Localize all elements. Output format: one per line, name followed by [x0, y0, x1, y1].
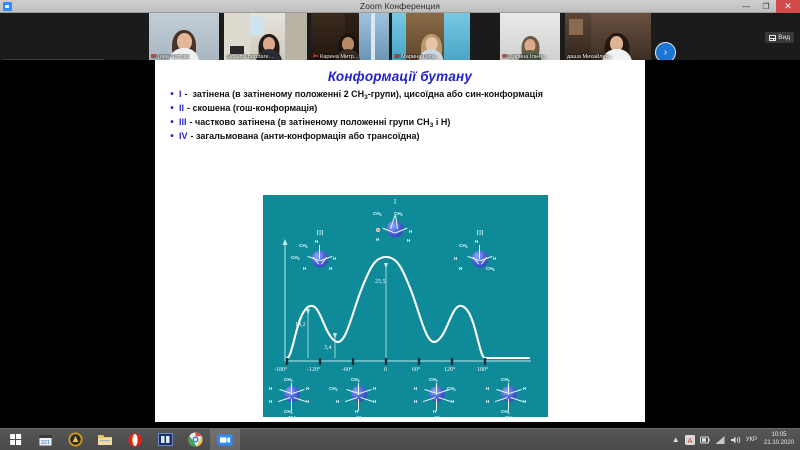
chevron-right-icon: › [664, 48, 667, 58]
atom-label: H [303, 266, 306, 271]
network-icon[interactable] [715, 435, 725, 445]
chrome-icon [188, 432, 203, 447]
bullet-text-a: скошена (гош-конформація) [193, 103, 318, 113]
bullet-dot: • [165, 117, 179, 128]
atom-label: CH3 [459, 243, 468, 248]
x-tick-label: 180° [477, 367, 488, 373]
atom-label: H [486, 399, 489, 404]
atom-label: H [451, 399, 454, 404]
atom-label: H [269, 399, 272, 404]
newman-bond [479, 245, 480, 259]
svg-text:A: A [687, 437, 692, 444]
system-tray: ▲ A УКР 10:05 21.10.2020 [672, 432, 800, 447]
bullet-dot: • [165, 131, 179, 142]
atom-label: CH3 [394, 211, 403, 216]
highlight-dot [376, 228, 380, 232]
atom-label: H [315, 239, 318, 244]
atom-label: H [306, 399, 309, 404]
taskbar-item-opera[interactable] [120, 429, 150, 450]
newman-projection-bottom-3: CH3 H CH3 H H H II [413, 379, 461, 413]
atom-label: H [433, 409, 436, 414]
list-item: • II- скошена (гош-конформація) [165, 103, 635, 115]
participant-tile[interactable]: ✄ Інна Попова [149, 13, 219, 60]
bullet-dot: • [165, 89, 179, 100]
atom-label: H [523, 399, 526, 404]
app-icon [158, 433, 173, 446]
conformer-roman: III [317, 229, 324, 237]
atom-label: H [414, 386, 417, 391]
list-item: • III- частково затінена (в затіненому п… [165, 117, 635, 129]
laptop-shape [230, 46, 244, 54]
x-tick-label: 0 [384, 367, 387, 373]
taskbar-item-chrome[interactable] [180, 429, 210, 450]
bullet-dash: - [185, 89, 188, 99]
atom-label: H [459, 266, 462, 271]
conformer-roman: II [435, 415, 440, 423]
atom-label: CH3 [291, 255, 300, 260]
atom-label: H [373, 386, 376, 391]
atom-label: CH3 [299, 243, 308, 248]
participant-tile[interactable]: ✄ Карина Митр... [311, 13, 389, 60]
taskbar-item-calendar[interactable]: 321 [30, 429, 60, 450]
bullet-text-a: затінена (в затіненому положенні 2 CH [193, 89, 365, 99]
explorer-icon [97, 433, 113, 446]
zoom-icon [217, 434, 233, 446]
bullet-text: III- частково затінена (в затіненому пол… [179, 117, 635, 129]
atom-label: CH3 [429, 377, 438, 382]
clock-time: 10:05 [762, 432, 796, 439]
conformer-roman: IV [505, 415, 512, 423]
bullet-dot: • [165, 103, 179, 114]
conformer-roman: III [477, 229, 484, 237]
bullet-subscript: 3 [430, 122, 434, 129]
bullet-dash: - [190, 117, 193, 127]
newman-bond [319, 245, 320, 259]
taskbar-item-media[interactable] [60, 429, 90, 450]
window-titlebar[interactable]: Zoom Конференция — ❐ ✕ [0, 0, 800, 13]
atom-label: H [414, 399, 417, 404]
atom-label: H [329, 266, 332, 271]
annotation-arrow-3-4 [333, 333, 337, 339]
atom-label: CH3 [486, 266, 495, 271]
taskbar-item-zoom[interactable] [210, 429, 240, 450]
slide-title: Конформації бутану [155, 69, 645, 84]
atom-label: H [333, 256, 336, 261]
zoom-meeting-window: Zoom Конференция — ❐ ✕ ✄ Інна Попова [0, 0, 800, 428]
desktop: Zoom Конференция — ❐ ✕ ✄ Інна Попова [0, 0, 800, 450]
bullet-dash: - [191, 131, 194, 141]
participant-filmstrip: ✄ Інна Попова Svitlana Bondare... [0, 13, 800, 60]
bullet-text-a: частково затінена (в затіненому положенн… [195, 117, 430, 127]
x-tick-label: 60° [412, 367, 420, 373]
x-tick-label: -120° [307, 367, 320, 373]
atom-label: CH3 [447, 386, 456, 391]
minimize-button[interactable]: — [736, 0, 756, 13]
picture-frame [569, 19, 583, 35]
atom-label: H [454, 256, 457, 261]
atom-label: CH3 [284, 409, 293, 414]
window-frame [371, 13, 375, 60]
bullet-roman: IV [179, 131, 188, 141]
atom-label: CH3 [329, 386, 338, 391]
bullet-subscript: 3 [364, 94, 368, 101]
bullet-text-b: -групи), цисоїдна або син-конформація [368, 89, 543, 99]
bullet-roman: III [179, 117, 187, 127]
volume-icon[interactable] [730, 435, 741, 445]
windows-taskbar: 321 [0, 428, 800, 450]
atom-label: H [475, 239, 478, 244]
atom-label: H [269, 386, 272, 391]
close-button[interactable]: ✕ [776, 0, 800, 13]
atom-label: H [523, 386, 526, 391]
atom-label: CH3 [284, 377, 293, 382]
taskbar-item-app[interactable] [150, 429, 180, 450]
media-icon [68, 432, 83, 447]
newman-projection-top-left: III H CH3 CH3 H H H [293, 239, 347, 279]
slide-bullet-list: • I- затінена (в затіненому положенні 2 … [165, 89, 635, 143]
conformer-roman: II [357, 415, 362, 423]
participant-tile[interactable]: Svitlana Bondare... [224, 13, 307, 60]
battery-icon[interactable] [700, 435, 710, 445]
newman-projection-top-right: III H CH3 H H H CH3 [453, 239, 507, 279]
taskbar-item-explorer[interactable] [90, 429, 120, 450]
maximize-button[interactable]: ❐ [756, 0, 776, 13]
bullet-text: II- скошена (гош-конформація) [179, 103, 635, 115]
tile-bg-right [285, 13, 307, 60]
svg-text:321: 321 [40, 440, 49, 446]
atom-label: CH3 [373, 211, 382, 216]
view-button[interactable]: Вид [765, 32, 794, 43]
atom-label: H [355, 409, 358, 414]
clock[interactable]: 10:05 21.10.2020 [762, 432, 796, 447]
grid-view-icon [769, 35, 776, 41]
windows-logo-icon [10, 434, 21, 445]
participant-tile[interactable]: даша Михайлен... [565, 13, 651, 60]
start-button[interactable] [0, 429, 30, 450]
participant-tile[interactable]: ✄ Марина Гуль... [392, 13, 470, 60]
energy-diagram: 14,2 3,4 25,5 -180° -120° -60° 0 60° 120… [263, 195, 548, 417]
atom-label: H [493, 256, 496, 261]
annotation-arrow-14-2 [306, 309, 310, 315]
x-tick-label: -60° [342, 367, 352, 373]
clock-date: 21.10.2020 [762, 440, 796, 447]
bullet-roman: I [179, 89, 182, 99]
presentation-slide: Конформації бутану • I- затінена (в заті… [155, 60, 645, 422]
atom-label: H [376, 237, 379, 242]
shared-screen-stage: Конформації бутану • I- затінена (в заті… [0, 60, 800, 428]
atom-label: CH3 [351, 377, 360, 382]
atom-label: H [409, 229, 412, 234]
annotation-label: 3,4 [324, 345, 332, 351]
list-item: • I- затінена (в затіненому положенні 2 … [165, 89, 635, 101]
atom-label: H [336, 399, 339, 404]
list-item: • IV- загальмована (анти-конформація або… [165, 131, 635, 143]
language-indicator[interactable]: УКР [746, 437, 757, 443]
participant-tile[interactable]: ✄ Дарина Ільче... [500, 13, 560, 60]
y-axis-arrow [282, 239, 287, 245]
bullet-text: I- затінена (в затіненому положенні 2 CH… [179, 89, 635, 101]
newman-projection-bottom-2: CH3 CH3 H H H H II [335, 379, 383, 413]
newman-projection-bottom-1: CH3 H H H H CH3 IV [268, 379, 316, 413]
opera-icon [128, 433, 142, 447]
newman-projection-bottom-4: CH3 H H H H CH3 IV [485, 379, 533, 413]
conformer-roman: I [394, 198, 396, 206]
atom-label: H [486, 386, 489, 391]
calendar-icon: 321 [38, 433, 53, 447]
x-tick-label: 120° [444, 367, 455, 373]
window-controls: — ❐ ✕ [736, 0, 800, 13]
bullet-roman: II [179, 103, 184, 113]
atom-label: CH3 [501, 377, 510, 382]
antivirus-icon[interactable]: A [685, 435, 695, 445]
annotation-arrow-25-5 [384, 263, 388, 269]
show-hidden-icons-button[interactable]: ▲ [672, 436, 680, 444]
window-title: Zoom Конференция [0, 1, 800, 11]
atom-label: CH3 [501, 409, 510, 414]
bullet-text-b: і H) [433, 117, 450, 127]
atom-label: H [306, 386, 309, 391]
view-button-label: Вид [778, 34, 790, 41]
atom-label: H [373, 399, 376, 404]
bullet-text-a: загальмована (анти-конформація або транс… [196, 131, 420, 141]
x-tick-label: -180° [274, 367, 287, 373]
conformer-roman: IV [288, 415, 295, 423]
atom-label: H [407, 238, 410, 243]
bullet-text: IV- загальмована (анти-конформація або т… [179, 131, 635, 143]
annotation-label: 25,5 [375, 279, 386, 285]
bullet-dash: - [187, 103, 190, 113]
newman-projection-top-center: I CH3 CH3 H H H [368, 209, 422, 249]
tile-window-light [250, 17, 264, 35]
annotation-label: 14,2 [295, 322, 306, 328]
next-participants-button[interactable]: › [655, 42, 676, 60]
